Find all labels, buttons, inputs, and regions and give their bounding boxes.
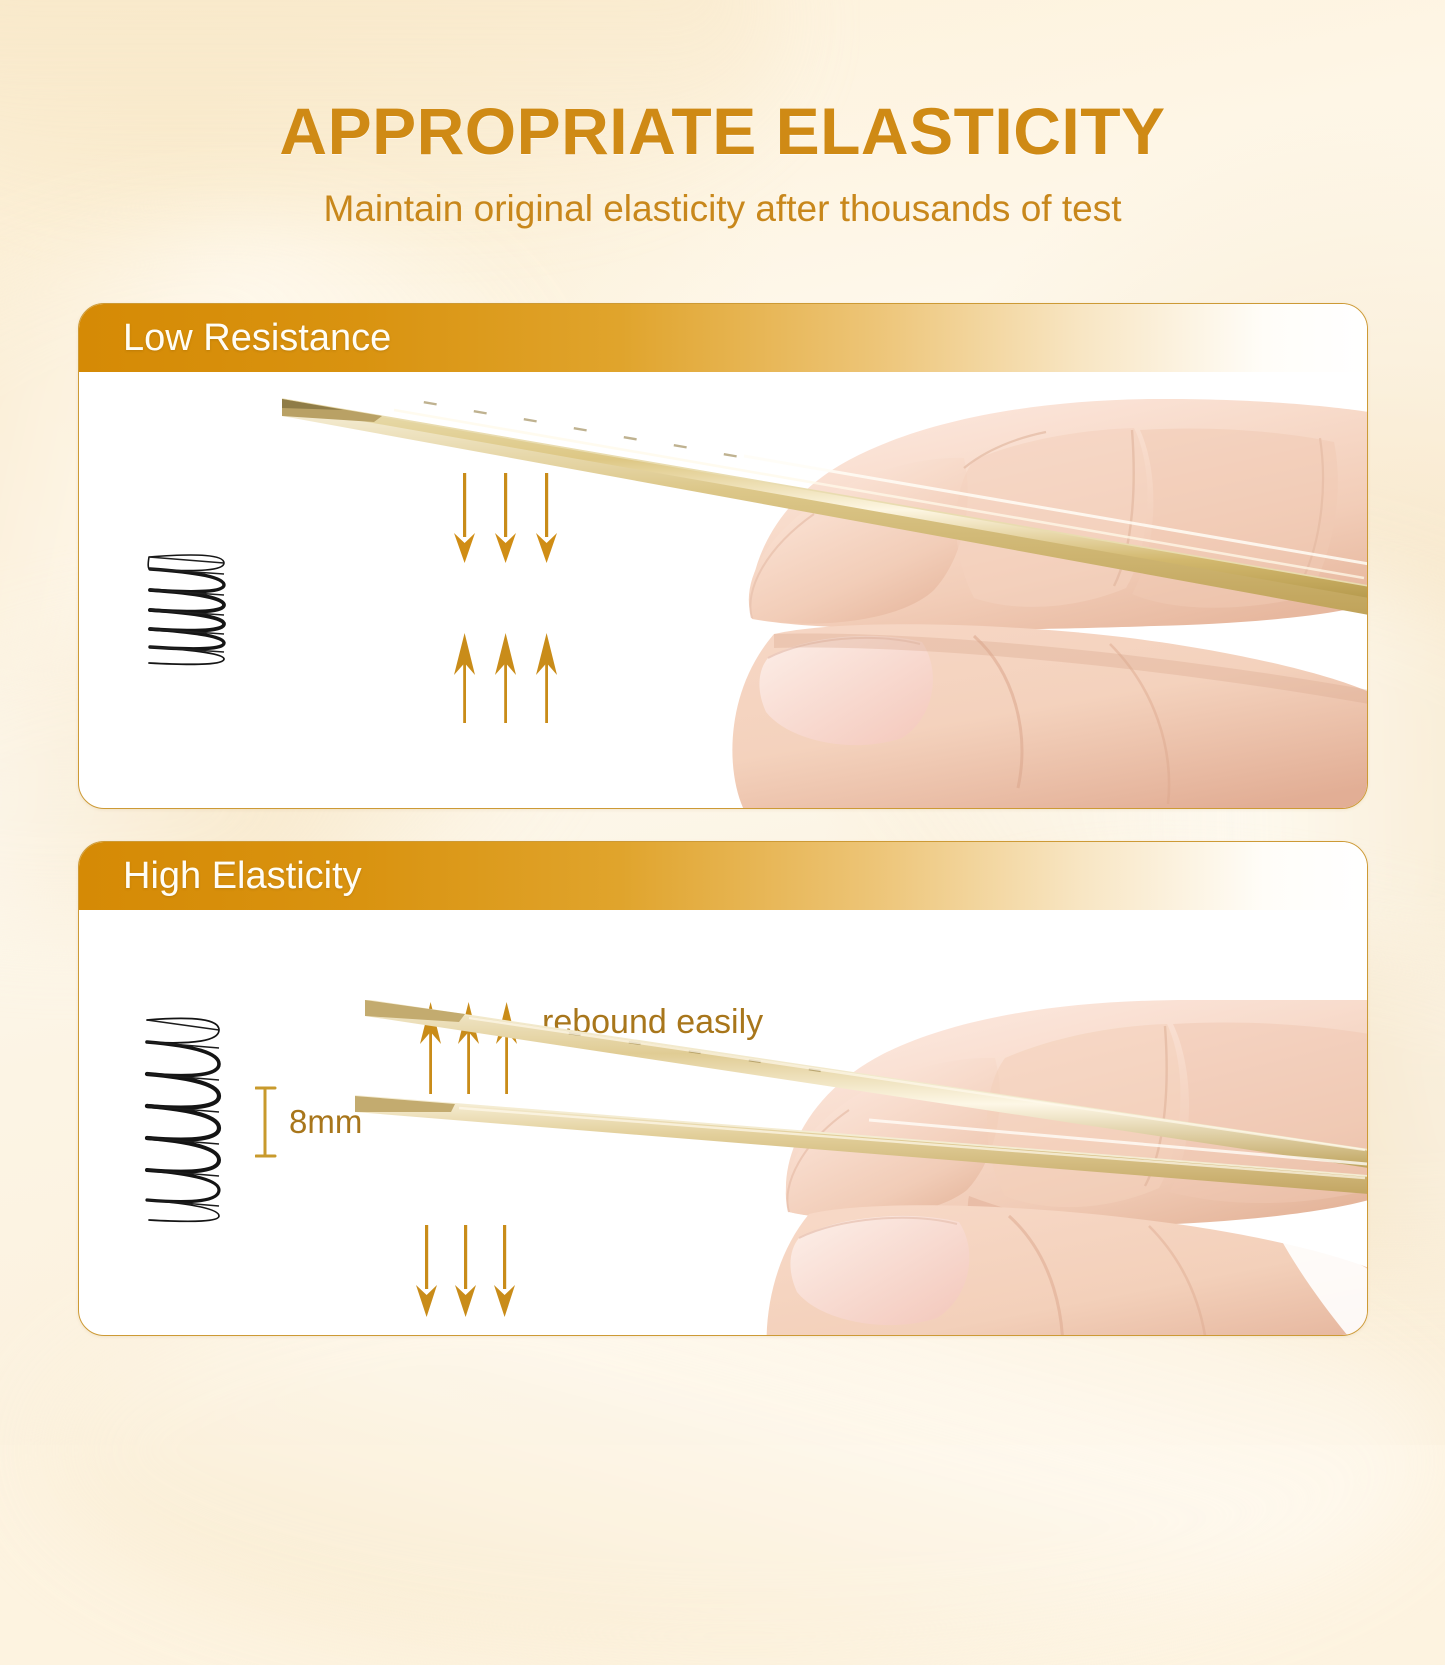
panel-high-elasticity-header: High Elasticity bbox=[79, 842, 1367, 910]
panel-high-elasticity-label: High Elasticity bbox=[123, 857, 362, 895]
panel-low-resistance: Low Resistance bbox=[78, 303, 1368, 809]
panel-low-resistance-label: Low Resistance bbox=[123, 319, 391, 357]
page-subtitle: Maintain original elasticity after thous… bbox=[0, 190, 1445, 227]
page-title: APPROPRIATE ELASTICITY bbox=[0, 98, 1445, 164]
header-block: APPROPRIATE ELASTICITY Maintain original… bbox=[0, 0, 1445, 227]
extended-coil-spring-icon bbox=[119, 1010, 249, 1226]
panel-low-resistance-header: Low Resistance bbox=[79, 304, 1367, 372]
compressed-coil-spring-icon bbox=[127, 549, 247, 671]
tip-gap-dimension: 8mm bbox=[255, 1084, 425, 1160]
panel-low-resistance-body bbox=[79, 372, 1367, 808]
tip-gap-label: 8mm bbox=[289, 1105, 362, 1138]
hand-holding-open-tweezers bbox=[269, 1000, 1368, 1336]
hand-holding-closed-tweezers bbox=[274, 372, 1368, 809]
